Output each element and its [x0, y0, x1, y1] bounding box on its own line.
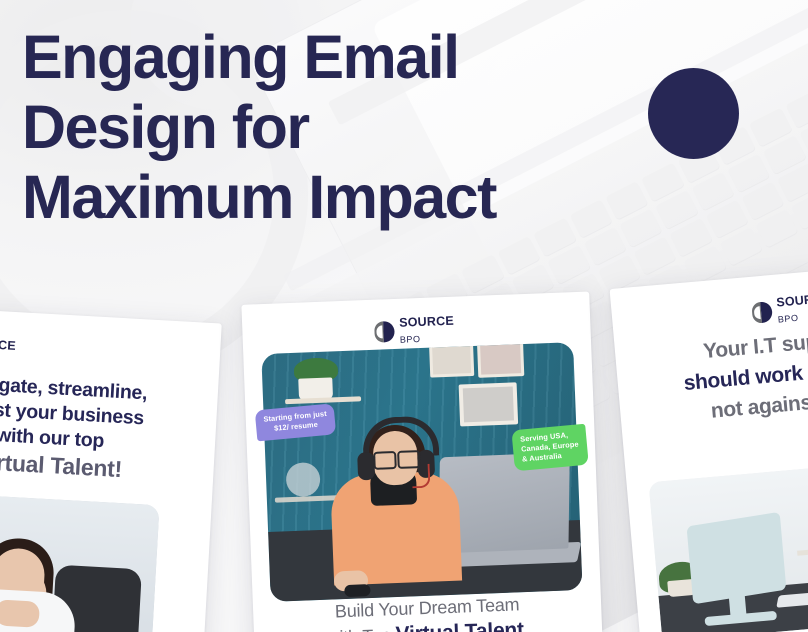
brand-logo: SOURCE BPO — [374, 313, 455, 348]
card-middle-photo — [261, 342, 582, 602]
card-right-headline-line-1: Your I.T support — [702, 327, 808, 363]
brand-logo-text: SOURCE BPO — [776, 290, 808, 327]
page-title-line-1: Engaging Email — [22, 22, 642, 92]
brand-logo: SOURCE BPO — [0, 334, 16, 370]
page-title: Engaging Email Design for Maximum Impact — [22, 22, 642, 232]
card-middle-caption-bold: Virtual Talent. — [395, 618, 530, 632]
email-template-card-right[interactable]: SOURCE BPO Your I.T support should work … — [610, 260, 808, 632]
email-template-card-middle[interactable]: SOURCE BPO Starting from just $12/ resum… — [241, 291, 602, 632]
navy-circle-decoration — [648, 68, 739, 159]
card-left-headline-accent: Virtual Talent! — [0, 448, 123, 482]
source-bpo-logo-icon — [751, 301, 773, 324]
source-bpo-logo-icon — [374, 320, 395, 342]
card-right-headline-line-3: not against you — [710, 386, 808, 422]
card-right-headline: Your I.T support should work for you, no… — [614, 316, 808, 434]
brand-logo-text: SOURCE BPO — [0, 335, 16, 370]
page-title-line-2: Design for — [22, 92, 642, 162]
badge-regions: Serving USA, Canada, Europe & Australia — [511, 424, 588, 471]
brand-name-bottom: BPO — [400, 334, 421, 345]
brand-name-bottom: BPO — [777, 313, 799, 325]
brand-name-top: SOURCE — [399, 314, 454, 330]
poster-canvas: Engaging Email Design for Maximum Impact… — [0, 0, 808, 632]
brand-name-top: SOURCE — [0, 336, 16, 353]
card-left-headline-line-3: with our top — [0, 424, 105, 452]
card-right-photo — [649, 457, 808, 632]
brand-name-top: SOURCE — [776, 291, 808, 310]
email-template-card-left[interactable]: SOURCE BPO Delegate, streamline, boost y… — [0, 305, 222, 632]
card-left-photo — [0, 489, 160, 632]
page-title-line-3: Maximum Impact — [22, 162, 642, 232]
brand-logo: SOURCE BPO — [751, 290, 808, 329]
card-middle-caption-prefix: with Top — [326, 625, 396, 632]
card-left-headline: Delegate, streamline, boost your busines… — [0, 367, 218, 490]
card-right-headline-line-2: should work for you, — [683, 355, 808, 395]
brand-logo-text: SOURCE BPO — [399, 313, 455, 347]
card-middle-caption-line-1: Build Your Dream Team — [335, 594, 520, 621]
